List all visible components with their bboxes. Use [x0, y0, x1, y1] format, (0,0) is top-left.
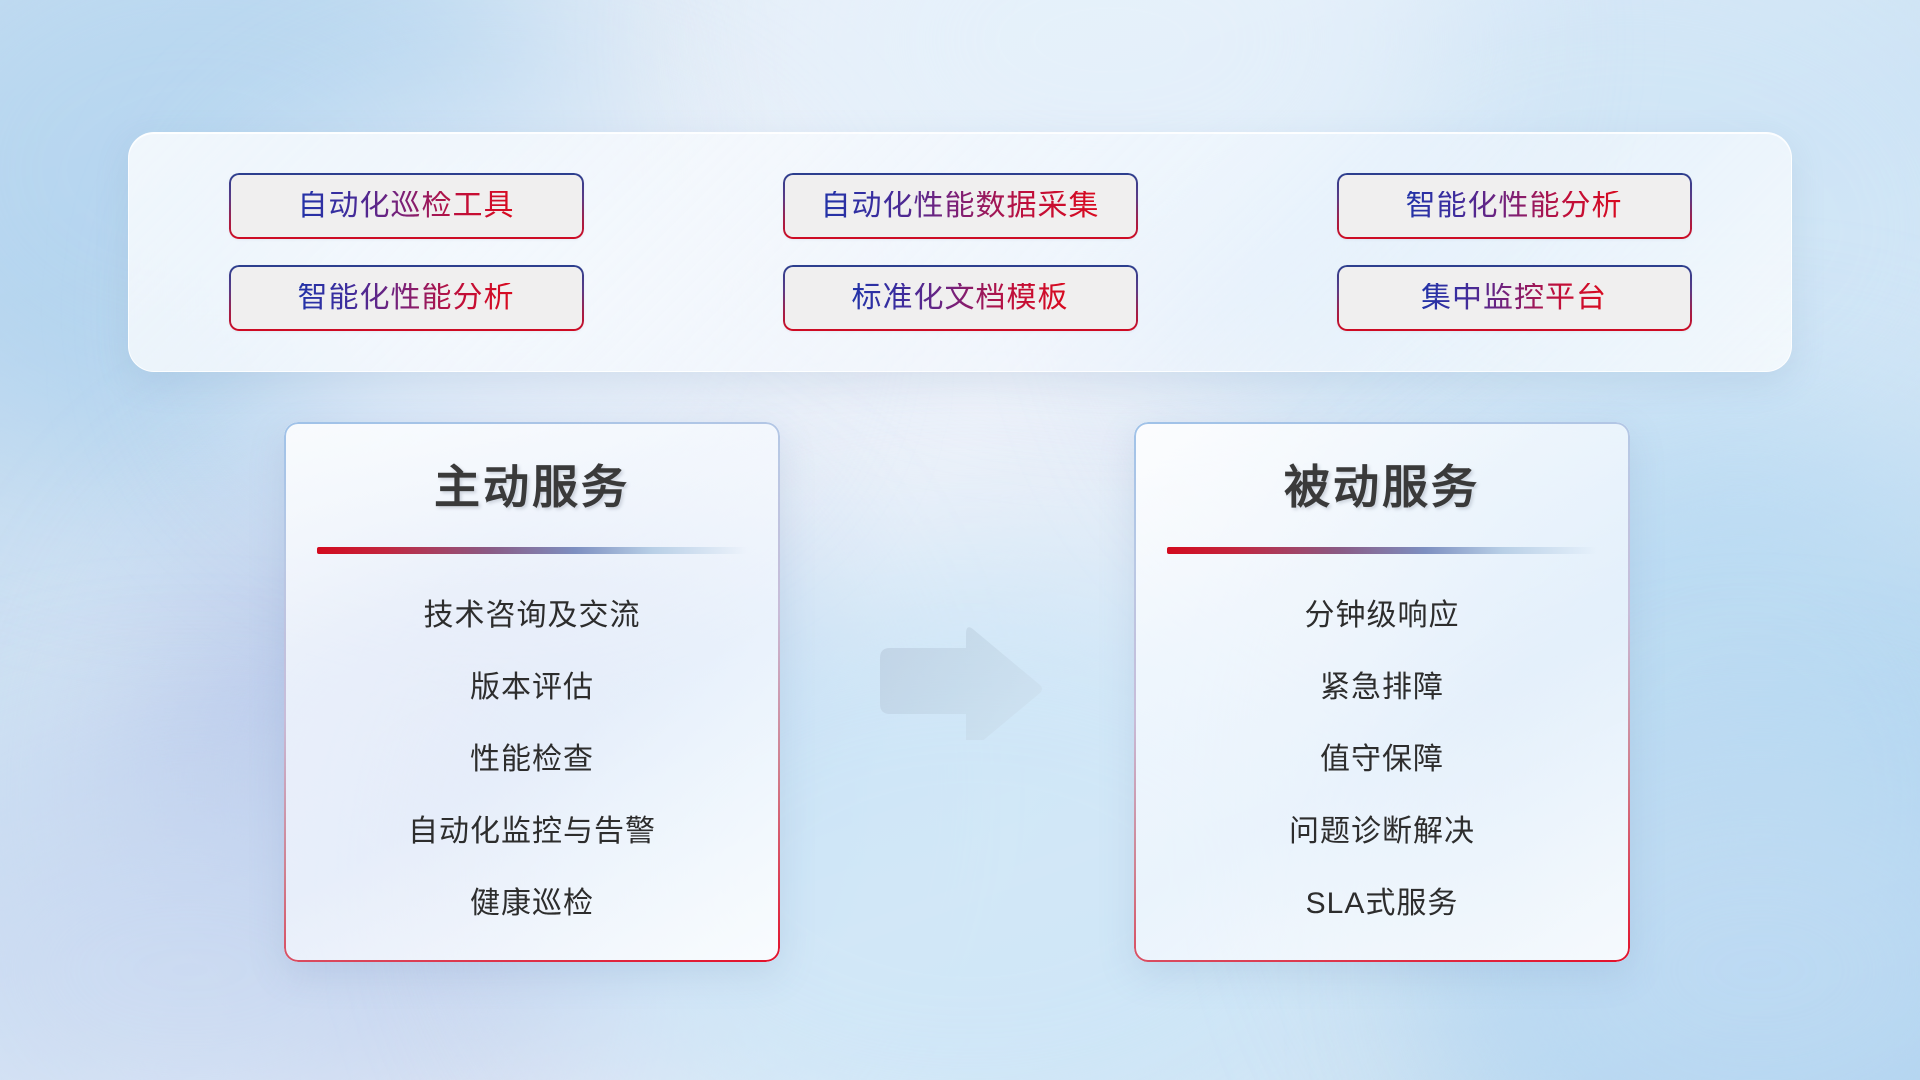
list-item: 紧急排障	[1320, 652, 1444, 724]
list-item: 分钟级响应	[1305, 580, 1460, 652]
active-service-list: 技术咨询及交流 版本评估 性能检查 自动化监控与告警 健康巡检	[320, 580, 744, 940]
capability-chip-label: 智能化性能分析	[298, 283, 515, 313]
list-item: 技术咨询及交流	[424, 580, 641, 652]
capability-panel: 自动化巡检工具 自动化性能数据采集 智能化性能分析 智能化性能分析 标准化文档模…	[128, 132, 1792, 372]
capability-row-2: 智能化性能分析 标准化文档模板 集中监控平台	[129, 265, 1791, 331]
passive-service-title: 被动服务	[1284, 462, 1480, 513]
active-service-card[interactable]: 主动服务 技术咨询及交流 版本评估 性能检查 自动化监控与告警 健康巡检	[284, 422, 780, 962]
active-service-title: 主动服务	[434, 462, 630, 513]
list-item: 健康巡检	[470, 868, 594, 940]
title-underline-rule	[317, 547, 747, 554]
list-item: 版本评估	[470, 652, 594, 724]
passive-service-list: 分钟级响应 紧急排障 值守保障 问题诊断解决 SLA式服务	[1170, 580, 1594, 940]
capability-chip-label: 标准化文档模板	[852, 283, 1069, 313]
capability-chip-label: 自动化巡检工具	[298, 191, 515, 221]
capability-chip-label: 智能化性能分析	[1406, 191, 1623, 221]
list-item: 自动化监控与告警	[408, 796, 656, 868]
capability-chip-label: 集中监控平台	[1421, 283, 1607, 313]
capability-chip-intelligent-performance-analysis-2[interactable]: 智能化性能分析	[229, 265, 584, 331]
capability-chip-standardized-doc-template[interactable]: 标准化文档模板	[783, 265, 1138, 331]
passive-service-card[interactable]: 被动服务 分钟级响应 紧急排障 值守保障 问题诊断解决 SLA式服务	[1134, 422, 1630, 962]
capability-chip-label: 自动化性能数据采集	[821, 191, 1100, 221]
capability-chip-automated-performance-data-collection[interactable]: 自动化性能数据采集	[783, 173, 1138, 239]
arrow-right-icon	[872, 622, 1042, 740]
capability-row-1: 自动化巡检工具 自动化性能数据采集 智能化性能分析	[129, 173, 1791, 239]
capability-chip-centralized-monitoring-platform[interactable]: 集中监控平台	[1337, 265, 1692, 331]
list-item: SLA式服务	[1306, 868, 1459, 940]
title-underline-rule	[1167, 547, 1597, 554]
list-item: 性能检查	[470, 724, 594, 796]
list-item: 问题诊断解决	[1289, 796, 1475, 868]
capability-chip-automated-inspection-tool[interactable]: 自动化巡检工具	[229, 173, 584, 239]
list-item: 值守保障	[1320, 724, 1444, 796]
capability-chip-intelligent-performance-analysis-1[interactable]: 智能化性能分析	[1337, 173, 1692, 239]
